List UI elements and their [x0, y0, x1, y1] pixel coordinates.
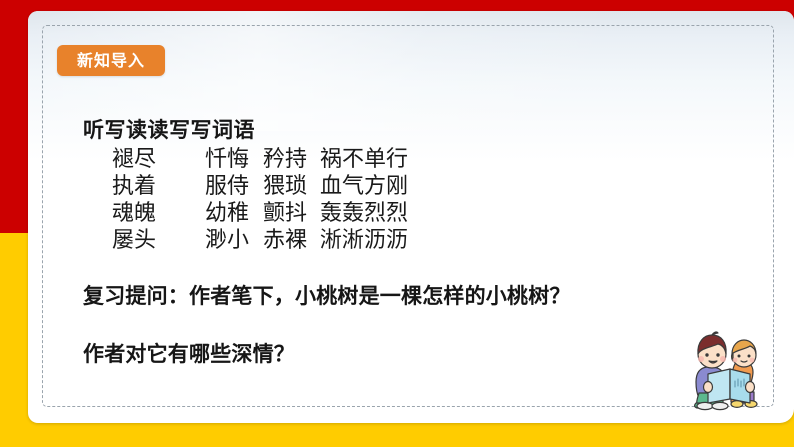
table-row: 魂魄 幼稚 颤抖 轰轰烈烈 [112, 200, 430, 227]
vocab-cell: 血气方刚 [320, 173, 430, 200]
vocab-cell: 魂魄 [112, 200, 205, 227]
vocab-cell: 执着 [112, 173, 205, 200]
vocab-cell: 颤抖 [263, 200, 320, 227]
table-row: 褪尽 忏悔 矜持 祸不单行 [112, 146, 430, 173]
vocab-cell: 屡头 [112, 227, 205, 254]
vocab-cell: 渺小 [205, 227, 263, 254]
vocab-cell: 服侍 [205, 173, 263, 200]
table-row: 执着 服侍 猥琐 血气方刚 [112, 173, 430, 200]
vocab-cell: 淅淅沥沥 [320, 227, 430, 254]
vocab-cell: 幼稚 [205, 200, 263, 227]
section-badge: 新知导入 [57, 45, 165, 76]
two-children-reading-book-icon [683, 327, 769, 413]
page-title: 听写读读写写词语 [83, 114, 255, 144]
vocab-cell: 褪尽 [112, 146, 205, 173]
table-row: 屡头 渺小 赤裸 淅淅沥沥 [112, 227, 430, 254]
review-question-2: 作者对它有哪些深情？ [83, 338, 295, 368]
review-question-1: 复习提问：作者笔下，小桃树是一棵怎样的小桃树？ [83, 280, 571, 310]
vocabulary-table: 褪尽 忏悔 矜持 祸不单行 执着 服侍 猥琐 血气方刚 魂魄 幼稚 颤抖 轰轰烈… [112, 146, 430, 254]
vocab-cell: 矜持 [263, 146, 320, 173]
vocabulary-table-body: 褪尽 忏悔 矜持 祸不单行 执着 服侍 猥琐 血气方刚 魂魄 幼稚 颤抖 轰轰烈… [112, 146, 430, 254]
slide-root: 新知导入 听写读读写写词语 褪尽 忏悔 矜持 祸不单行 执着 服侍 猥琐 血气方… [0, 0, 794, 447]
vocab-cell: 忏悔 [205, 146, 263, 173]
vocab-cell: 祸不单行 [320, 146, 430, 173]
vocab-cell: 猥琐 [263, 173, 320, 200]
vocab-cell: 轰轰烈烈 [320, 200, 430, 227]
vocab-cell: 赤裸 [263, 227, 320, 254]
